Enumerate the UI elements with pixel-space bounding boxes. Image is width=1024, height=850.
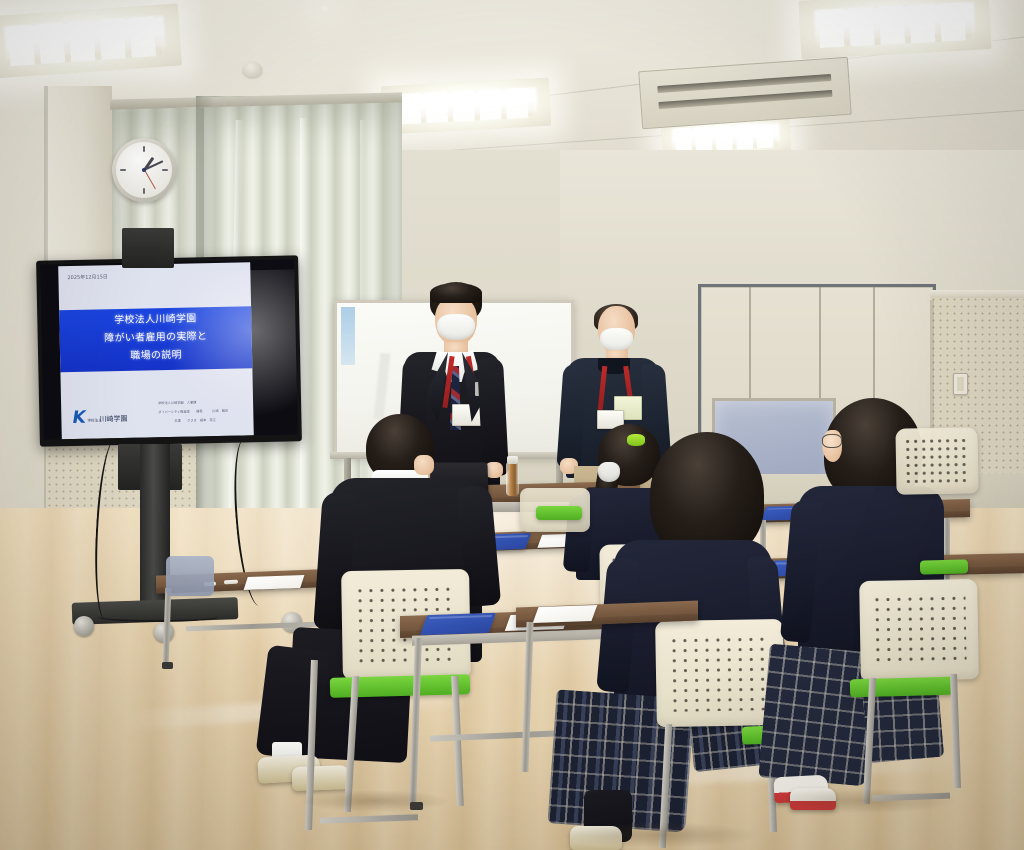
desk-foot (162, 662, 173, 669)
presentation-display[interactable]: 2025年12月15日 学校法人川崎学園 障がい者雇用の実際と 職場の説明 K … (36, 255, 302, 446)
chair-backrest[interactable] (895, 427, 978, 494)
paper-handout (533, 605, 598, 623)
light-switch[interactable] (953, 373, 968, 395)
hair-fringe (430, 283, 482, 303)
kawasaki-logo-icon: K (71, 408, 87, 428)
chair-backrest[interactable] (166, 556, 214, 596)
floor-shadow (560, 822, 760, 848)
chair-seat (536, 506, 582, 520)
power-cable (98, 612, 218, 622)
slide-logo-name: 川崎学園 (99, 414, 127, 425)
face-mask (598, 462, 620, 482)
ceiling-light (320, 6, 330, 12)
face-mask (437, 314, 475, 340)
tv-stand-top-box (122, 228, 174, 268)
floor-shadow (760, 788, 960, 814)
hand (414, 455, 434, 475)
slide-logo-prefix: 学校法人 (87, 418, 101, 423)
wall-rail (930, 290, 1024, 298)
bottle-cap (507, 456, 518, 464)
marker-pen[interactable] (224, 580, 238, 585)
smoke-detector-icon (243, 62, 262, 77)
classroom-photo-scene: 2025年12月15日 学校法人川崎学園 障がい者雇用の実際と 職場の説明 K … (0, 0, 1024, 850)
clock-second-hand (144, 170, 156, 190)
glasses (822, 434, 842, 448)
sneaker (292, 765, 351, 791)
caster-wheel (74, 616, 94, 636)
blue-folder[interactable] (420, 613, 496, 635)
slide-date: 2025年12月15日 (67, 273, 108, 281)
paper-handout (244, 575, 305, 590)
chair-seat (920, 559, 968, 574)
ceiling-light (799, 0, 992, 59)
floor-shadow (300, 790, 450, 812)
chair-seat (850, 677, 954, 698)
ceiling-light (381, 78, 551, 135)
face-mask (600, 328, 633, 351)
wall-clock (112, 138, 176, 202)
chair-backrest[interactable] (859, 579, 979, 681)
plastic-bottle (506, 462, 519, 496)
hair-tie (627, 434, 645, 446)
